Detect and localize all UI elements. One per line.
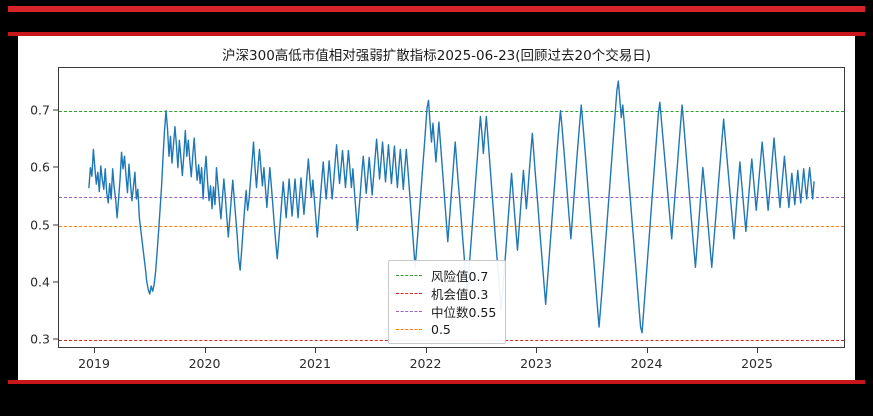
x-tick-label: 2020 — [189, 356, 221, 371]
screenshot-root: 沪深300高低市值相对强弱扩散指标2025-06-23(回顾过去20个交易日) … — [0, 0, 873, 416]
legend-swatch-median — [396, 311, 422, 312]
y-tick-label: 0.6 — [30, 160, 50, 175]
chart-legend[interactable]: 风险值0.7机会值0.3中位数0.550.5 — [388, 260, 506, 344]
chart-figure: 沪深300高低市值相对强弱扩散指标2025-06-23(回顾过去20个交易日) … — [18, 36, 855, 380]
legend-label-median: 中位数0.55 — [431, 302, 496, 321]
x-tick-label: 2023 — [520, 356, 552, 371]
y-tick-label: 0.5 — [30, 217, 50, 232]
legend-swatch-half — [396, 329, 422, 330]
legend-item-median[interactable]: 中位数0.55 — [396, 302, 496, 320]
x-tick-mark — [536, 348, 537, 353]
frame-accent-bar-top — [8, 6, 865, 12]
x-tick-mark — [205, 348, 206, 353]
legend-item-chance[interactable]: 机会值0.3 — [396, 284, 496, 302]
x-tick-label: 2019 — [78, 356, 110, 371]
legend-swatch-chance — [396, 293, 422, 294]
y-tick-mark — [53, 110, 58, 111]
legend-label-risk: 风险值0.7 — [431, 266, 488, 285]
legend-swatch-risk — [396, 275, 422, 276]
y-tick-mark — [53, 282, 58, 283]
chart-title: 沪深300高低市值相对强弱扩散指标2025-06-23(回顾过去20个交易日) — [18, 44, 855, 64]
y-tick-mark — [53, 224, 58, 225]
x-tick-label: 2025 — [741, 356, 773, 371]
frame-accent-bar-bottom — [8, 380, 865, 384]
y-tick-label: 0.7 — [30, 103, 50, 118]
legend-item-risk[interactable]: 风险值0.7 — [396, 266, 496, 284]
y-tick-mark — [53, 339, 58, 340]
legend-label-chance: 机会值0.3 — [431, 284, 488, 303]
x-tick-mark — [94, 348, 95, 353]
legend-label-half: 0.5 — [431, 322, 451, 337]
y-tick-label: 0.3 — [30, 332, 50, 347]
y-tick-label: 0.4 — [30, 275, 50, 290]
y-tick-mark — [53, 167, 58, 168]
x-tick-label: 2021 — [299, 356, 331, 371]
x-tick-mark — [757, 348, 758, 353]
x-tick-mark — [426, 348, 427, 353]
x-tick-label: 2022 — [410, 356, 442, 371]
x-tick-mark — [647, 348, 648, 353]
x-tick-mark — [315, 348, 316, 353]
x-tick-label: 2024 — [631, 356, 663, 371]
legend-item-half[interactable]: 0.5 — [396, 320, 496, 338]
